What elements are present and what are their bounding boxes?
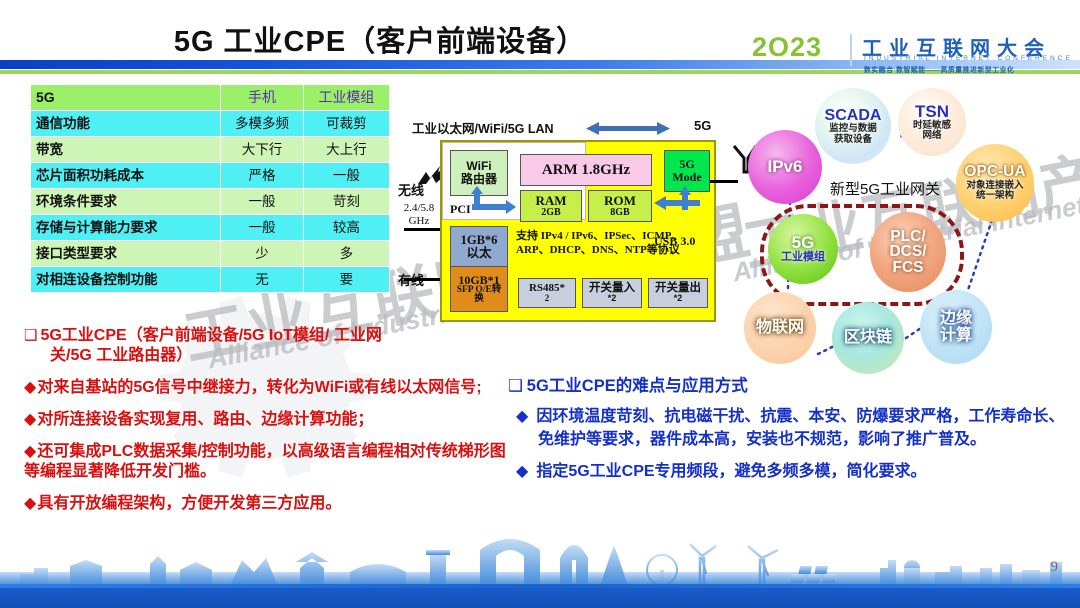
left-bullet: ◆对所连接设备实现复用、路由、边缘计算功能； [24,410,514,431]
logo-year: 2O23 [752,32,822,63]
cpe-enclosure: WiFi 路由器 ARM 1.8GHz RAM 2GB ROM 8GB 5G M… [440,140,716,322]
logo-name-en: INDUSTRIAL INTERNET CONFERENCE [864,55,1073,62]
diamond-bullet-icon: ◆ [24,443,36,460]
diagram-top-label: 工业以太网/WiFi/5G LAN [412,118,554,137]
table-cell-phone: 一般 [221,215,304,241]
block-ram-size: 2GB [541,208,560,219]
label-usb: USB 3.0 [654,234,695,249]
block-digital-output: 开关量出 *2 [648,278,708,308]
block-do-count: *2 [674,294,683,303]
bubble-ipv6-title: IPv6 [768,158,803,176]
bubble-plc-line3: FCS [893,260,924,276]
ecosystem-bubble-diagram: SCADA 监控与数据 获取设备 TSN 时延敏感 网络 IPv6 OPC-UA… [730,74,1080,374]
slide-root: 工业互联网产业联盟 Alliance of Industrial Interne… [0,0,1080,608]
bubble-5g-module: 5G 工业模组 [768,214,838,284]
table-cell-phone: 多模多频 [221,111,304,137]
bubble-edge-computing: 边缘 计算 [920,290,992,364]
right-bullet: ◆指定5G工业CPE专用频段，避免多频多模，简化要求。 [508,460,1068,483]
block-sfp-line3: 换 [474,295,484,305]
table-row: 环境条件要求 一般 苛刻 [31,189,390,215]
bubble-opc-ua-sub2: 统一架构 [976,191,1014,201]
bubble-scada: SCADA 监控与数据 获取设备 [815,88,891,164]
table-cell-module: 可裁剪 [303,111,389,137]
left-heading: ❑5G工业CPE（客户前端设备/5G IoT模组/ 工业网 关/5G 工业路由器… [24,326,514,367]
table-cell-label: 芯片面积功耗成本 [31,163,221,189]
logo-slogan: 数实融合 数智赋能——高质量推进新型工业化 [864,64,1014,74]
bubble-plc-dcs-fcs: PLC/ DCS/ FCS [870,212,946,292]
bubble-iot: 物联网 [744,292,816,364]
table-header-row: 5G 手机 工业模组 [31,85,390,111]
wired-line-sfp [404,278,444,281]
table-cell-module: 大上行 [303,137,389,163]
bubble-plc-line2: DCS/ [889,244,926,260]
page-number: 9 [1051,559,1059,576]
diamond-bullet-icon: ◆ [24,411,36,428]
left-bullet: ◆对来自基站的5G信号中继接力，转化为WiFi或有线以太网信号; [24,378,514,399]
bubble-opc-ua: OPC-UA 对象连接嵌入 统一架构 [956,144,1034,222]
left-bullet-text: 对所连接设备实现复用、路由、边缘计算功能； [37,411,373,428]
table-cell-module: 要 [303,267,389,293]
bubble-tsn-sub2: 网络 [922,131,941,141]
label-frequency: 2.4/5.8 GHz [398,202,440,227]
block-ram: RAM 2GB [520,190,582,222]
square-bullet-icon: ❑ [508,377,523,395]
arrow-left-usb-icon [654,196,700,210]
page-title: 5G 工业CPE（客户前端设备） [0,18,760,60]
right-bullet: ◆因环境温度苛刻、抗电磁干扰、抗震、本安、防爆要求严格，工作寿命长、免维护等要求… [508,405,1068,451]
bottom-bar [0,584,1080,608]
bubble-plc-line1: PLC/ [890,229,925,245]
right-bullet-text: 指定5G工业CPE专用频段，避免多频多模，简化要求。 [536,463,926,480]
comparison-table: 5G 手机 工业模组 通信功能 多模多频 可裁剪 带宽 大下行 大上行 芯片面积… [30,84,390,293]
right-heading-text: 5G工业CPE的难点与应用方式 [527,377,748,395]
bubble-iot-title: 物联网 [756,319,804,336]
diamond-bullet-icon: ◆ [516,463,528,480]
gateway-label: 新型5G工业网关 [830,178,940,199]
block-rom-name: ROM [604,194,636,208]
table-row: 对相连设备控制功能 无 要 [31,267,390,293]
table-cell-label: 环境条件要求 [31,189,221,215]
bubble-scada-sub2: 获取设备 [834,135,872,145]
table-cell-module: 多 [303,241,389,267]
left-heading-line2: 关/5G 工业路由器） [24,346,514,366]
table-cell-label: 对相连设备控制功能 [31,267,221,293]
diagram-right-label: 5G [694,118,711,133]
block-sfp-line1: 10GB*1 [458,274,499,286]
bubble-edge-line2: 计算 [940,327,972,344]
block-ram-name: RAM [535,194,566,208]
table-cell-label: 存储与计算能力要求 [31,215,221,241]
table-cell-label: 接口类型要求 [31,241,221,267]
cpe-block-diagram: 工业以太网/WiFi/5G LAN 5G 无线 2.4/5.8 GHz 有线 W… [398,118,738,318]
city-skyline-graphic [0,538,1080,586]
table-cell-phone: 大下行 [221,137,304,163]
bidirectional-arrow-icon [586,122,670,135]
table-header-cell-0: 5G [31,85,221,111]
left-bullet-text: 还可集成PLC数据采集/控制功能，以高级语言编程相对传统梯形图等编程显著降低开发… [24,443,506,481]
right-heading: ❑5G工业CPE的难点与应用方式 [508,372,1068,396]
block-arm-cpu: ARM 1.8GHz [520,154,652,186]
arrow-right-pci-icon [472,200,516,214]
right-text-block: ❑5G工业CPE的难点与应用方式 ◆因环境温度苛刻、抗电磁干扰、抗震、本安、防爆… [508,372,1068,484]
block-sfp: 10GB*1 SFP O/E转 换 [450,266,508,312]
left-bullet: ◆还可集成PLC数据采集/控制功能，以高级语言编程相对传统梯形图等编程显著降低开… [24,442,514,484]
table-header-cell-2: 工业模组 [303,85,389,111]
table-header-cell-1: 手机 [221,85,304,111]
block-rom: ROM 8GB [588,190,652,222]
bubble-tsn-title: TSN [915,103,949,121]
bubble-scada-title: SCADA [825,107,882,124]
bubble-ipv6: IPv6 [748,130,822,204]
left-heading-line1: 5G工业CPE（客户前端设备/5G IoT模组/ 工业网 [40,327,381,344]
square-bullet-icon: ❑ [24,327,37,344]
conference-logo: 2O23 中国·苏州 6月14日-16日 工业互联网大会 INDUSTRIAL … [752,32,1078,74]
block-rom-size: 8GB [610,208,629,219]
table-cell-label: 通信功能 [31,111,221,137]
bubble-blockchain: 区块链 [832,302,904,374]
table-row: 通信功能 多模多频 可裁剪 [31,111,390,137]
left-bullet: ◆具有开放编程架构，方便开发第三方应用。 [24,494,514,515]
table-cell-module: 一般 [303,163,389,189]
block-rs485: RS485* 2 [518,278,576,308]
block-ethernet: 1GB*6 以太 [450,226,508,268]
left-bullet-text: 具有开放编程架构，方便开发第三方应用。 [37,495,341,512]
bubble-opc-ua-title: OPC-UA [964,164,1025,181]
table-cell-phone: 一般 [221,189,304,215]
bubble-5g-module-title: 5G [792,234,815,252]
wired-line-eth [404,228,444,231]
logo-divider [850,34,852,66]
bubble-edge-line1: 边缘 [940,310,972,327]
logo-year-sub: 中国·苏州 6月14日-16日 [754,61,814,68]
left-bullet-text: 对来自基站的5G信号中继接力，转化为WiFi或有线以太网信号; [37,379,481,396]
right-bullet-text: 因环境温度苛刻、抗电磁干扰、抗震、本安、防爆要求严格，工作寿命长、免维护等要求，… [536,408,1064,448]
bubble-tsn: TSN 时延敏感 网络 [898,88,966,156]
bubble-blockchain-title: 区块链 [844,329,892,346]
table-row: 存储与计算能力要求 一般 较高 [31,215,390,241]
diamond-bullet-icon: ◆ [516,408,528,425]
arrow-up-5g-icon [678,186,692,210]
diamond-bullet-icon: ◆ [24,495,36,512]
label-pci: PCI [450,202,471,217]
table-cell-phone: 严格 [221,163,304,189]
block-ethernet-line2: 以太 [466,247,491,260]
table-cell-label: 带宽 [31,137,221,163]
table-cell-phone: 少 [221,241,304,267]
table-cell-phone: 无 [221,267,304,293]
table-row: 接口类型要求 少 多 [31,241,390,267]
block-5g-mode-line2: Mode [672,171,701,184]
block-wifi-router-line2: 路由器 [461,173,497,186]
table-row: 芯片面积功耗成本 严格 一般 [31,163,390,189]
block-rs485-count: 2 [545,294,550,303]
block-digital-input: 开关量入 *2 [582,278,642,308]
table-cell-module: 苛刻 [303,189,389,215]
block-di-count: *2 [608,294,617,303]
bubble-5g-module-sub1: 工业模组 [781,252,825,264]
table-row: 带宽 大下行 大上行 [31,137,390,163]
diamond-bullet-icon: ◆ [24,379,36,396]
table-cell-module: 较高 [303,215,389,241]
left-text-block: ❑5G工业CPE（客户前端设备/5G IoT模组/ 工业网 关/5G 工业路由器… [24,326,514,515]
